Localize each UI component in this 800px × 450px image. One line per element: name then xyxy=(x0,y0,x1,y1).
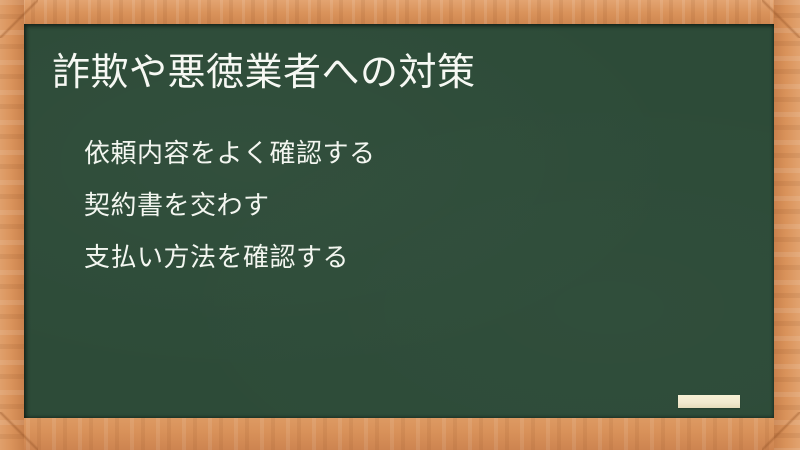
bullet-item: 支払い方法を確認する xyxy=(84,232,724,284)
chalk-stick-icon xyxy=(678,395,740,408)
frame-rail-left xyxy=(0,0,24,450)
frame-rail-right xyxy=(774,0,800,450)
slide-title: 詐欺や悪徳業者への対策 xyxy=(52,50,476,95)
chalkboard-slide: 詐欺や悪徳業者への対策 依頼内容をよく確認する 契約書を交わす 支払い方法を確認… xyxy=(0,0,800,450)
frame-rail-top xyxy=(0,0,800,24)
bullet-item: 依頼内容をよく確認する xyxy=(84,128,724,180)
chalkboard: 詐欺や悪徳業者への対策 依頼内容をよく確認する 契約書を交わす 支払い方法を確認… xyxy=(24,24,774,418)
bullet-list: 依頼内容をよく確認する 契約書を交わす 支払い方法を確認する xyxy=(84,128,724,284)
bullet-item: 契約書を交わす xyxy=(84,180,724,232)
frame-rail-bottom xyxy=(0,418,800,450)
